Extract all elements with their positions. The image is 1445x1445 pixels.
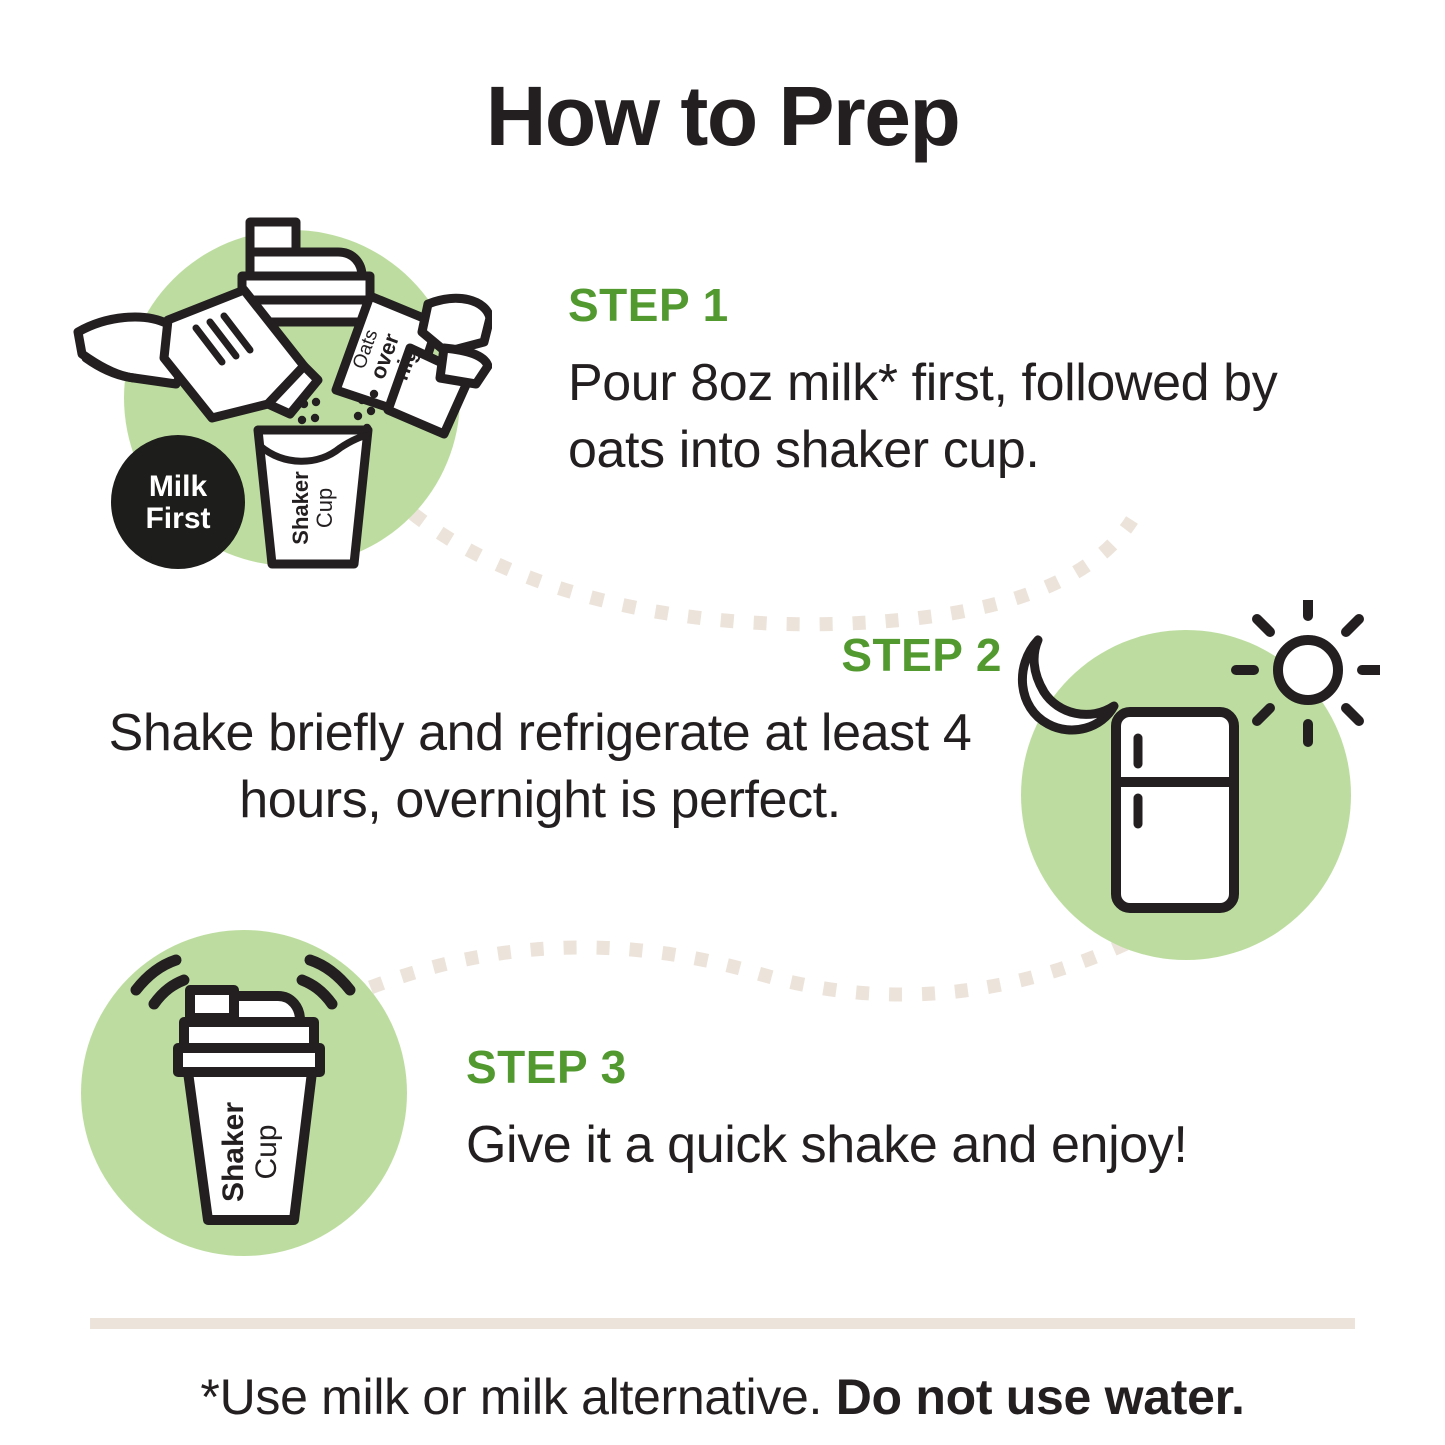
footnote-bold: Do not use water. (836, 1369, 1245, 1425)
footnote-plain: *Use milk or milk alternative. (200, 1369, 835, 1425)
footnote: *Use milk or milk alternative. Do not us… (0, 1368, 1445, 1426)
step-2-art-svg (990, 600, 1380, 970)
shaker-cup-icon: Shaker Cup (178, 990, 320, 1220)
page-title: How to Prep (0, 68, 1445, 165)
step-3-label: STEP 3 (466, 1044, 1346, 1090)
step-1-text-block: STEP 1 Pour 8oz milk* first, followed by… (568, 282, 1358, 483)
footer-divider (90, 1318, 1355, 1329)
step-1-body: Pour 8oz milk* first, followed by oats i… (568, 350, 1358, 483)
step-1-art-svg: Oats over nig Shaker C (72, 208, 492, 588)
step-1-illustration: Oats over nig Shaker C (72, 208, 492, 588)
sun-icon (1236, 600, 1380, 742)
step-3-art-svg: Shaker Cup (62, 930, 452, 1260)
refrigerator-icon (1116, 712, 1234, 908)
badge-line-2: First (145, 502, 210, 535)
milk-first-badge: Milk First (111, 435, 245, 569)
cup-label-bold: Shaker (217, 1102, 250, 1202)
infographic-page: How to Prep (0, 0, 1445, 1445)
cup-label-light: Cup (250, 1124, 283, 1179)
cup-label-light: Cup (312, 488, 337, 528)
step-2-text-block: STEP 2 Shake briefly and refrigerate at … (60, 632, 1020, 833)
step-2-illustration (990, 600, 1380, 970)
step-3-text-block: STEP 3 Give it a quick shake and enjoy! (466, 1044, 1346, 1179)
step-3-body: Give it a quick shake and enjoy! (466, 1112, 1346, 1179)
step-2-body: Shake briefly and refrigerate at least 4… (60, 700, 1020, 833)
shaker-cup-icon: Shaker Cup (258, 430, 368, 564)
step-2-label: STEP 2 (60, 632, 1020, 678)
cup-label-bold: Shaker (288, 471, 313, 545)
step-3-illustration: Shaker Cup (62, 930, 452, 1260)
step-1-label: STEP 1 (568, 282, 1358, 328)
badge-line-1: Milk (149, 470, 208, 503)
